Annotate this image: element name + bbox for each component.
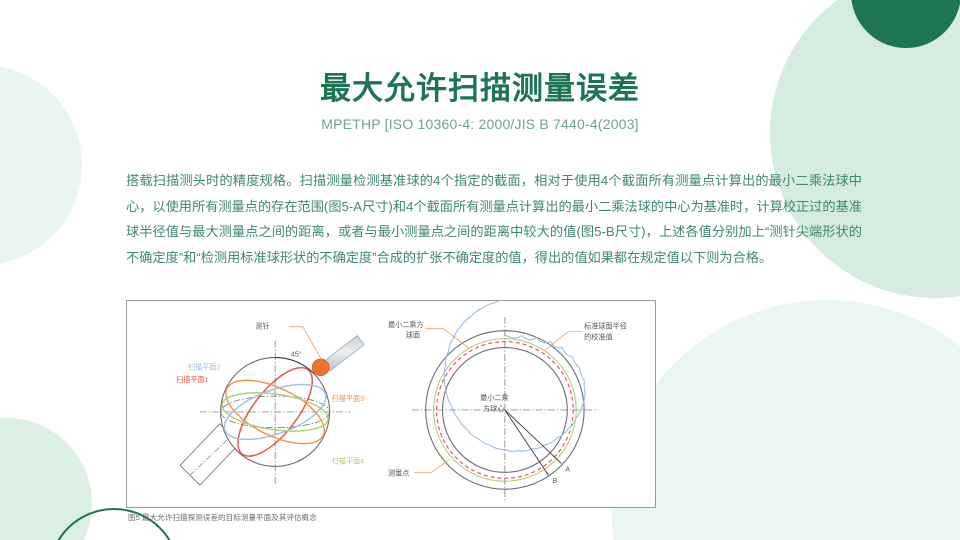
sphere-diagram: 45° 测针 扫描平面2 扫描平面1 扫描平面3 扫描平面4 [176,322,364,485]
figure-label-lsq-surface-line2: 球面 [406,331,420,340]
figure-label-plane1: 扫描平面1 [176,375,208,384]
slide-header: 最大允许扫描测量误差 MPETHP [ISO 10360-4: 2000/JIS… [0,70,960,132]
annulus-diagram: A B 最小二乘方 球面 标准球面半径 的校准值 最小二乘 方球心 测量点 [388,301,627,503]
figure-label-stylus: 测针 [255,322,269,331]
figure-panel: 45° 测针 扫描平面2 扫描平面1 扫描平面3 扫描平面4 [126,300,656,508]
figure-label-angle: 45° [291,350,302,358]
figure-label-std-radius-line1: 标准球面半径 [584,322,627,331]
page-subtitle: MPETHP [ISO 10360-4: 2000/JIS B 7440-4(2… [0,116,960,132]
page-title: 最大允许扫描测量误差 [0,70,960,109]
body-paragraph: 搭载扫描测头时的精度规格。扫描测量检测基准球的4个指定的截面，相对于使用4个截面… [126,168,862,270]
figure-label-dim-a: A [565,465,570,473]
figure-label-std-radius-line2: 的校准值 [584,333,613,342]
figure-label-dim-b: B [552,477,557,485]
slide-canvas: 最大允许扫描测量误差 MPETHP [ISO 10360-4: 2000/JIS… [0,0,960,540]
figure-caption: 图5 最大允许扫描探测误差的目标测量平面及其评估概念 [128,512,317,523]
figure-label-plane3: 扫描平面3 [332,394,364,403]
figure-label-plane4: 扫描平面4 [332,456,364,465]
figure-label-lsq-center-line1: 最小二乘 [480,393,509,402]
decor-circle-bottom-right [612,300,960,540]
figure-label-measure-point: 测量点 [388,469,409,477]
figure-label-lsq-center-line2: 方球心 [483,404,504,413]
figure-label-lsq-surface-line1: 最小二乘方 [388,320,424,329]
figure-illustration: 45° 测针 扫描平面2 扫描平面1 扫描平面3 扫描平面4 [127,301,655,507]
figure-label-plane2: 扫描平面2 [188,362,220,371]
